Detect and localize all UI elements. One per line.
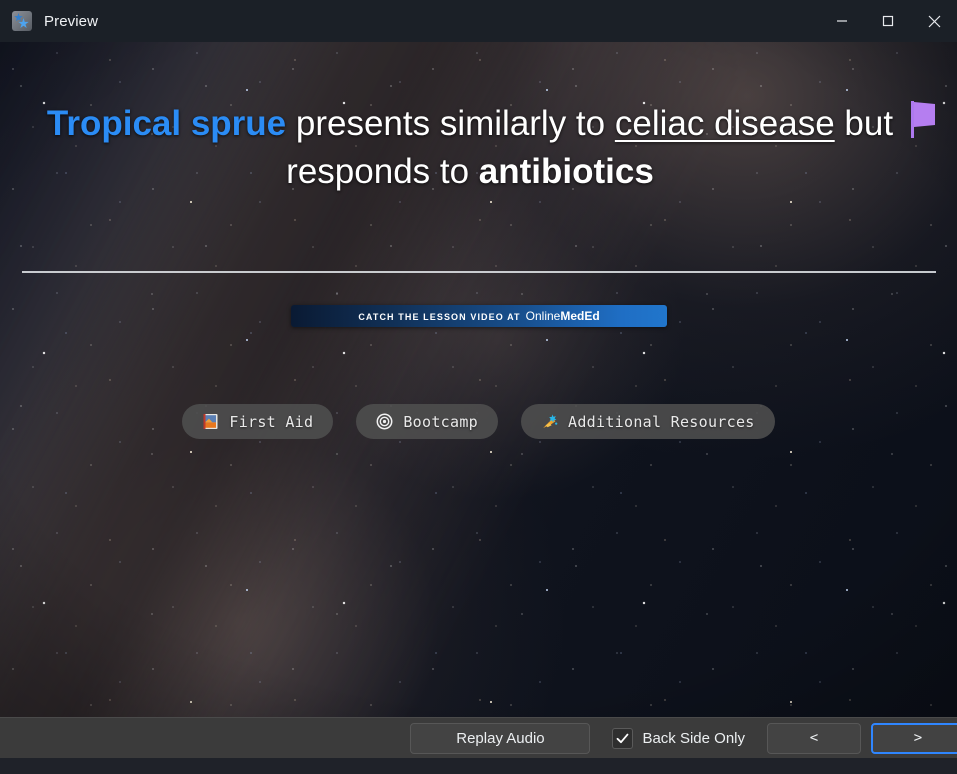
banner-caption: CATCH THE LESSON VIDEO AT — [358, 312, 520, 322]
minimize-icon[interactable] — [819, 0, 865, 42]
horizontal-divider — [22, 271, 936, 273]
bottom-toolbar: Replay Audio Back Side Only < > — [0, 717, 957, 758]
target-icon — [376, 413, 393, 430]
navigation-button-group: < > — [767, 723, 957, 754]
maximize-icon[interactable] — [865, 0, 911, 42]
first-aid-label: First Aid — [229, 413, 313, 431]
additional-resources-label: Additional Resources — [568, 413, 755, 431]
back-side-only-checkbox[interactable] — [612, 728, 633, 749]
window-controls — [819, 0, 957, 42]
onlinemeded-banner[interactable]: CATCH THE LESSON VIDEO AT OnlineMedEd — [291, 305, 667, 327]
window-bottom-strip — [0, 758, 957, 774]
next-card-button[interactable]: > — [871, 723, 957, 754]
resource-button-row: First Aid Bootcamp — [0, 404, 957, 439]
banner-brand: OnlineMedEd — [526, 309, 600, 323]
close-icon[interactable] — [911, 0, 957, 42]
window-title: Preview — [44, 13, 98, 30]
headline-term-tropical-sprue: Tropical sprue — [47, 104, 286, 143]
additional-resources-button[interactable]: Additional Resources — [521, 404, 775, 439]
bootcamp-label: Bootcamp — [403, 413, 478, 431]
back-side-only-checkbox-row[interactable]: Back Side Only — [612, 728, 745, 749]
card-headline: Tropical sprue presents similarly to cel… — [30, 100, 910, 196]
bootcamp-button[interactable]: Bootcamp — [356, 404, 498, 439]
banner-brand-bold: MedEd — [560, 309, 599, 323]
banner-brand-light: Online — [526, 309, 561, 323]
previous-card-button[interactable]: < — [767, 723, 861, 754]
anki-preview-window: Preview Tropical sprue presents similarl… — [0, 0, 957, 774]
headline-text-1: presents similarly to — [286, 104, 615, 143]
back-side-only-label: Back Side Only — [642, 730, 745, 747]
first-aid-button[interactable]: First Aid — [182, 404, 333, 439]
anki-star-card-icon — [12, 11, 32, 31]
title-bar: Preview — [0, 0, 957, 42]
headline-term-antibiotics: antibiotics — [479, 152, 654, 191]
party-popper-icon — [541, 413, 558, 430]
purple-flag-icon — [910, 99, 936, 139]
replay-audio-button[interactable]: Replay Audio — [410, 723, 590, 754]
card-preview-area: Tropical sprue presents similarly to cel… — [0, 42, 957, 717]
checkmark-icon — [615, 731, 630, 746]
headline-term-celiac-disease: celiac disease — [615, 104, 835, 143]
book-cover-icon — [202, 413, 219, 430]
